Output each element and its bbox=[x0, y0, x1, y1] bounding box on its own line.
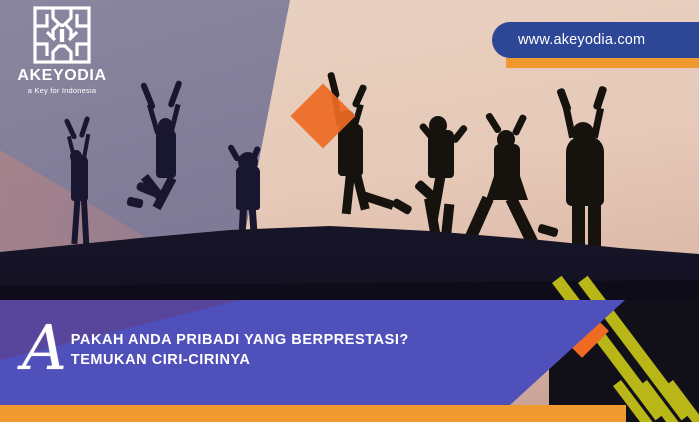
website-url-text: www.akeyodia.com bbox=[518, 32, 645, 48]
headline-line-1: PAKAH ANDA PRIBADI YANG BERPRESTASI? bbox=[71, 330, 409, 350]
logo-tagline: a Key for Indonesia bbox=[12, 86, 112, 95]
bottom-orange-bar bbox=[0, 405, 626, 422]
url-pill[interactable]: www.akeyodia.com bbox=[492, 22, 699, 58]
headline-line-2: TEMUKAN CIRI-CIRINYA bbox=[71, 350, 409, 370]
website-url-banner[interactable]: www.akeyodia.com bbox=[492, 22, 699, 58]
logo-wordmark: AKEYODIA bbox=[12, 67, 112, 85]
brand-logo[interactable]: AKEYODIA a Key for Indonesia bbox=[12, 6, 112, 95]
url-banner-accent-bar bbox=[506, 58, 699, 68]
headline-text-block: PAKAH ANDA PRIBADI YANG BERPRESTASI? TEM… bbox=[71, 330, 409, 370]
headline-drop-cap: A bbox=[22, 320, 67, 376]
headline: A PAKAH ANDA PRIBADI YANG BERPRESTASI? T… bbox=[22, 322, 409, 376]
promo-banner: AKEYODIA a Key for Indonesia www.akeyodi… bbox=[0, 0, 699, 422]
akeyodia-key-mark-icon bbox=[33, 6, 91, 64]
